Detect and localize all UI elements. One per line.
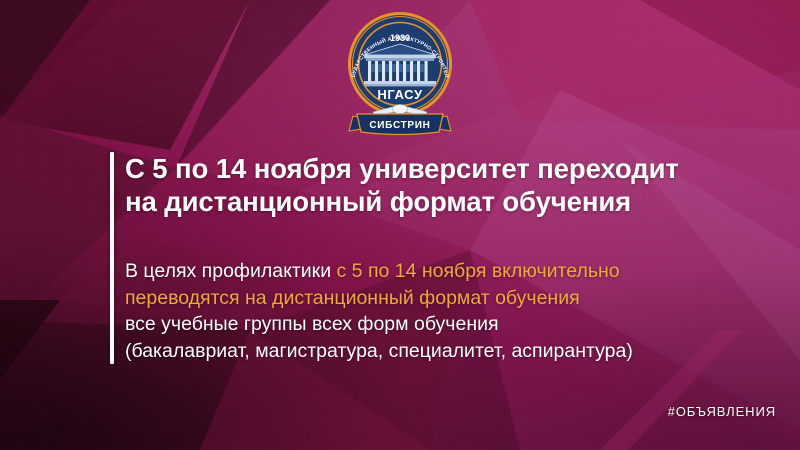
ngasu-sibstrin-emblem: НОВОСИБИРСКИЙ ГОСУДАРСТВЕННЫЙ АРХИТЕКТУР… xyxy=(339,0,461,138)
hashtag-label: #ОБЪЯВЛЕНИЯ xyxy=(668,404,776,419)
body-line-2: переводятся на дистанционный формат обуч… xyxy=(125,285,775,312)
page-title: С 5 по 14 ноября университет переходит н… xyxy=(125,152,765,218)
emblem-ribbon: СИБСТРИН xyxy=(349,114,451,135)
emblem-abbreviation: НГАСУ xyxy=(377,87,423,102)
emblem-ribbon-text: СИБСТРИН xyxy=(369,120,430,131)
headline-line-1: С 5 по 14 ноября университет переходит xyxy=(125,152,765,185)
body-line-3: все учебные группы всех форм обучения xyxy=(125,311,775,338)
headline-line-2: на дистанционный формат обучения xyxy=(125,185,765,218)
announcement-body: В целях профилактики с 5 по 14 ноября вк… xyxy=(125,258,775,364)
left-accent-rule xyxy=(110,152,114,364)
body-line-1-lead: В целях профилактики xyxy=(125,260,337,282)
body-line-1-accent: с 5 по 14 ноября включительно xyxy=(337,260,620,282)
body-line-4: (бакалавриат, магистратура, специалитет,… xyxy=(125,338,775,365)
emblem-year: 1930 xyxy=(390,33,410,43)
announcement-banner: НОВОСИБИРСКИЙ ГОСУДАРСТВЕННЫЙ АРХИТЕКТУР… xyxy=(0,0,800,450)
body-line-1: В целях профилактики с 5 по 14 ноября вк… xyxy=(125,258,775,285)
